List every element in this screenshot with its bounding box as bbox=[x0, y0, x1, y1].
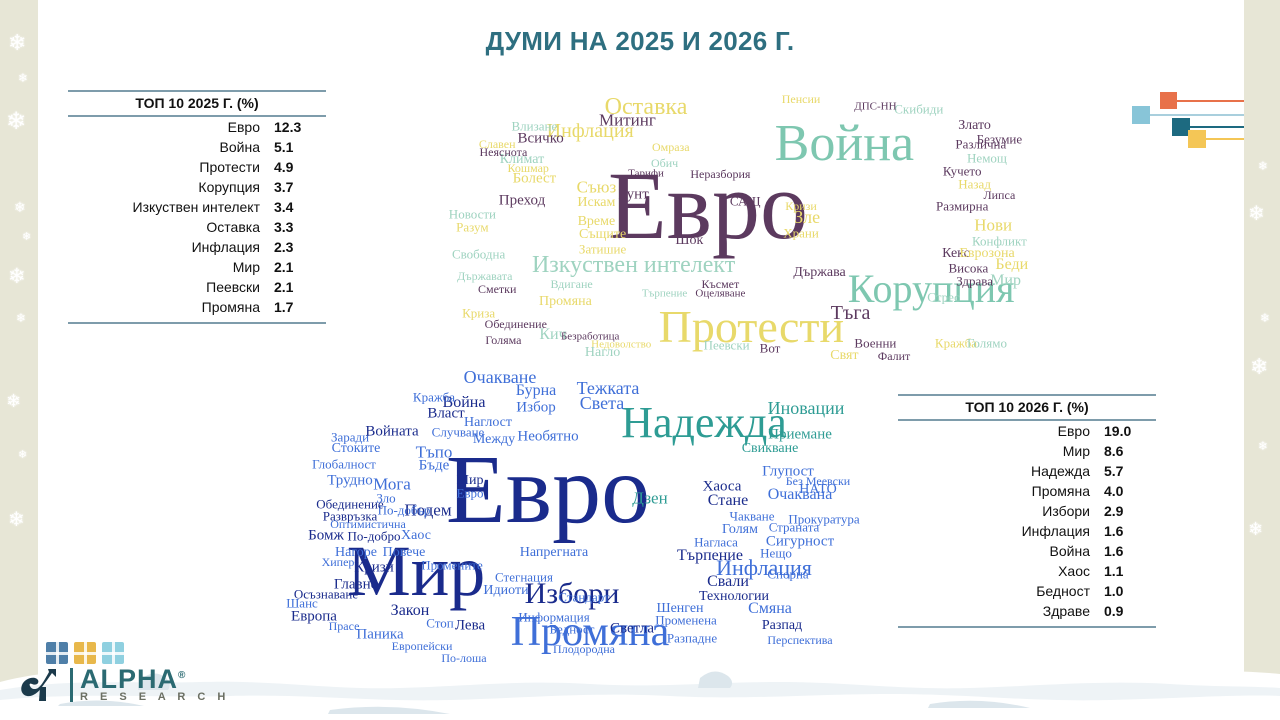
cloud-word: Сметки bbox=[478, 283, 516, 295]
cloud-word: Осъзнаване bbox=[294, 588, 358, 601]
cloud-word: Бунт bbox=[618, 188, 648, 203]
cloud-word: Иновации bbox=[768, 399, 845, 417]
cloud-word: Търпение bbox=[642, 289, 687, 300]
snowflake-icon: ❄ bbox=[1250, 356, 1268, 378]
table-row: Промяна1.7 bbox=[68, 297, 326, 317]
row-value: 5.7 bbox=[1104, 461, 1156, 481]
cloud-word: Спорна bbox=[767, 567, 808, 580]
cloud-word: Протести bbox=[659, 304, 844, 350]
row-value: 0.9 bbox=[1104, 601, 1156, 621]
cloud-word: Разпад bbox=[762, 619, 802, 633]
deco-line-orange bbox=[1177, 100, 1244, 102]
cloud-word: Тарифи bbox=[628, 168, 664, 179]
table-row: Война1.6 bbox=[898, 541, 1156, 561]
snowflake-icon: ❄ bbox=[1258, 160, 1268, 172]
deco-square-yellow bbox=[1188, 130, 1206, 148]
table-rule-bottom bbox=[898, 626, 1156, 628]
cloud-word: Власт bbox=[427, 407, 464, 422]
cloud-word: Идиоти bbox=[483, 584, 528, 598]
cloud-word: Съюз bbox=[577, 179, 617, 196]
cloud-word: Размирна bbox=[936, 199, 988, 212]
cloud-word: Избор bbox=[516, 401, 555, 416]
row-value: 3.4 bbox=[274, 197, 326, 217]
cloud-word: Стане bbox=[708, 493, 748, 509]
row-label: Мир bbox=[68, 257, 274, 277]
row-value: 4.0 bbox=[1104, 481, 1156, 501]
row-label: Протести bbox=[68, 157, 274, 177]
row-value: 19.0 bbox=[1104, 421, 1156, 441]
cloud-word: Евро bbox=[456, 486, 483, 499]
cloud-word: Необятно bbox=[517, 430, 578, 445]
cloud-word: Повече bbox=[383, 546, 426, 560]
table-row: Война5.1 bbox=[68, 137, 326, 157]
cloud-word: Глобалност bbox=[312, 457, 376, 470]
cloud-word: Кучето bbox=[943, 165, 982, 178]
cloud-word: Безумие bbox=[977, 132, 1023, 145]
cloud-word: Неразбория bbox=[690, 168, 750, 180]
row-value: 5.1 bbox=[274, 137, 326, 157]
cloud-word: Бъде bbox=[419, 459, 450, 474]
cloud-word: Държава bbox=[793, 266, 845, 280]
cloud-word: Между bbox=[473, 433, 515, 447]
cloud-word: Беди bbox=[995, 257, 1028, 273]
row-value: 4.9 bbox=[274, 157, 326, 177]
cloud-word: Новости bbox=[449, 207, 496, 220]
row-label: Война bbox=[898, 541, 1104, 561]
alpha-research-logo: ALPHA® R E S E A R C H bbox=[18, 658, 230, 712]
snowflake-icon: ❄ bbox=[1260, 312, 1270, 324]
row-label: Изкуствен интелект bbox=[68, 197, 274, 217]
cloud-word: Кризи bbox=[354, 560, 394, 575]
row-value: 1.6 bbox=[1104, 521, 1156, 541]
top10-2025-table: ТОП 10 2025 Г. (%) Евро12.3Война5.1Проте… bbox=[68, 90, 326, 324]
cloud-word: Стрес bbox=[927, 291, 960, 304]
table-row: Евро19.0 bbox=[898, 421, 1156, 441]
cloud-word: Кризи bbox=[785, 200, 817, 212]
cloud-word: Фалит bbox=[878, 350, 911, 362]
cloud-word: Вот bbox=[760, 341, 781, 354]
table-header-2026: ТОП 10 2026 Г. (%) bbox=[898, 396, 1156, 419]
top10-2026-table: ТОП 10 2026 Г. (%) Евро19.0Мир8.6Надежда… bbox=[898, 394, 1156, 628]
cloud-word: Свят bbox=[830, 349, 858, 363]
snowflake-icon: ❄ bbox=[22, 232, 31, 243]
cloud-word: Обединение bbox=[485, 318, 547, 330]
snowflake-icon: ❄ bbox=[1258, 440, 1268, 452]
cloud-word: Хипер bbox=[322, 556, 355, 568]
cloud-word: Нови bbox=[974, 216, 1012, 233]
table-row: Надежда5.7 bbox=[898, 461, 1156, 481]
cloud-word: Скибиди bbox=[894, 103, 943, 116]
cloud-word: Държавата bbox=[457, 270, 512, 282]
cloud-word: Здрава bbox=[956, 274, 993, 287]
cloud-word: Свикване bbox=[742, 442, 799, 456]
cloud-word: Шок bbox=[675, 234, 703, 248]
cloud-word: Чакване bbox=[730, 509, 775, 522]
snowflake-icon: ❄ bbox=[14, 200, 26, 214]
row-label: Пеевски bbox=[68, 277, 274, 297]
cloud-word: Искам bbox=[577, 196, 615, 210]
row-value: 2.9 bbox=[1104, 501, 1156, 521]
cloud-word: Преход bbox=[499, 193, 545, 208]
snowflake-icon: ❄ bbox=[18, 72, 28, 84]
row-value: 2.1 bbox=[274, 277, 326, 297]
snowflake-icon: ❄ bbox=[18, 450, 27, 461]
snowflake-icon: ❄ bbox=[8, 510, 25, 530]
cloud-word: Дзен bbox=[632, 490, 667, 507]
table-row: Здраве0.9 bbox=[898, 601, 1156, 621]
snowflake-icon: ❄ bbox=[8, 266, 26, 287]
cloud-word: Заради bbox=[331, 431, 369, 444]
row-label: Война bbox=[68, 137, 274, 157]
row-label: Корупция bbox=[68, 177, 274, 197]
cloud-word: Трудно bbox=[327, 473, 373, 488]
cloud-word: Закон bbox=[391, 603, 430, 619]
table-row: Пеевски2.1 bbox=[68, 277, 326, 297]
row-label: Промяна bbox=[898, 481, 1104, 501]
cloud-word: Прасе bbox=[329, 620, 360, 632]
cloud-word: Страната bbox=[769, 521, 820, 534]
cloud-word: Напрегната bbox=[520, 546, 588, 560]
cloud-word: Голяма bbox=[485, 334, 521, 346]
cloud-word: Надежда bbox=[621, 401, 787, 445]
table-row: Корупция3.7 bbox=[68, 177, 326, 197]
cloud-word: САЩ bbox=[730, 194, 761, 207]
row-label: Евро bbox=[68, 117, 274, 137]
page-title: ДУМИ НА 2025 И 2026 Г. bbox=[0, 26, 1280, 57]
cloud-word: Стегнация bbox=[495, 570, 553, 583]
cloud-word: Нещо bbox=[760, 547, 792, 560]
cloud-word: Приемане bbox=[768, 427, 832, 442]
cloud-word: Всичко bbox=[517, 131, 563, 146]
logo-divider bbox=[70, 668, 73, 702]
snowflake-icon: ❄ bbox=[6, 392, 21, 410]
table-row: Мир2.1 bbox=[68, 257, 326, 277]
deco-line-yellow bbox=[1206, 138, 1244, 140]
cloud-word: Войната bbox=[365, 424, 418, 439]
cloud-word: Нагло bbox=[585, 346, 620, 360]
word-cloud-2026: ЕвроМирНадеждаПромянаИзбориИнфлацияОчакв… bbox=[272, 362, 872, 652]
left-decorative-band: ❄ ❄ ❄ ❄ ❄ ❄ ❄ ❄ ❄ ❄ bbox=[0, 0, 38, 720]
table-row: Хаос1.1 bbox=[898, 561, 1156, 581]
table-rule-bottom bbox=[68, 322, 326, 324]
cloud-word: Смяна bbox=[748, 601, 792, 617]
table-row: Протести4.9 bbox=[68, 157, 326, 177]
cloud-word: Влизане bbox=[512, 119, 558, 132]
deco-line-teal bbox=[1190, 126, 1244, 128]
cloud-word: По-добро bbox=[348, 530, 401, 543]
cloud-word: Същите bbox=[579, 228, 626, 242]
cloud-word: Мога bbox=[373, 475, 411, 492]
row-value: 12.3 bbox=[274, 117, 326, 137]
alpha-arrow-icon bbox=[18, 663, 62, 707]
cloud-word: Война bbox=[775, 118, 914, 170]
row-label: Мир bbox=[898, 441, 1104, 461]
cloud-word: Търпение bbox=[677, 548, 743, 564]
row-label: Евро bbox=[898, 421, 1104, 441]
cloud-word: Тъга bbox=[831, 303, 871, 323]
cloud-word: Затишие bbox=[579, 242, 626, 255]
cloud-word: Голямо bbox=[967, 336, 1007, 349]
cloud-word: Неяснота bbox=[479, 146, 527, 158]
cloud-word: Кошмар bbox=[507, 162, 548, 174]
cloud-word: Промените bbox=[421, 559, 483, 572]
table-row: Избори2.9 bbox=[898, 501, 1156, 521]
row-label: Промяна bbox=[68, 297, 274, 317]
row-label: Инфлация bbox=[898, 521, 1104, 541]
table-row: Промяна4.0 bbox=[898, 481, 1156, 501]
cloud-word: Пеевски bbox=[704, 339, 750, 352]
table-row: Евро12.3 bbox=[68, 117, 326, 137]
row-value: 3.7 bbox=[274, 177, 326, 197]
row-value: 1.7 bbox=[274, 297, 326, 317]
logo-research-text: R E S E A R C H bbox=[80, 692, 230, 703]
cloud-word: Разум bbox=[456, 221, 488, 234]
table-body-2026: Евро19.0Мир8.6Надежда5.7Промяна4.0Избори… bbox=[898, 421, 1156, 621]
cloud-word: Хаос bbox=[401, 529, 431, 543]
cloud-word: Военни bbox=[854, 336, 896, 349]
table-row: Мир8.6 bbox=[898, 441, 1156, 461]
table-row: Изкуствен интелект3.4 bbox=[68, 197, 326, 217]
logo-alpha-text: ALPHA® bbox=[80, 667, 230, 693]
deco-square-orange bbox=[1160, 92, 1177, 109]
row-value: 2.1 bbox=[274, 257, 326, 277]
deco-line-lightblue bbox=[1150, 114, 1244, 116]
snowflake-icon: ❄ bbox=[16, 312, 26, 324]
cloud-word: ДПС-НН bbox=[854, 101, 896, 112]
row-value: 2.3 bbox=[274, 237, 326, 257]
cloud-word: По-добър bbox=[378, 503, 431, 516]
cloud-word: Митинг bbox=[599, 112, 656, 129]
row-value: 3.3 bbox=[274, 217, 326, 237]
cloud-word: Злато bbox=[958, 119, 991, 133]
row-label: Оставка bbox=[68, 217, 274, 237]
row-value: 1.1 bbox=[1104, 561, 1156, 581]
row-value: 1.0 bbox=[1104, 581, 1156, 601]
right-decorative-band: ❄ ❄ ❄ ❄ ❄ ❄ bbox=[1244, 0, 1280, 720]
snowflake-icon: ❄ bbox=[6, 110, 26, 134]
cloud-word: Стандарт bbox=[558, 590, 609, 603]
row-label: Инфлация bbox=[68, 237, 274, 257]
table-row: Оставка3.3 bbox=[68, 217, 326, 237]
table-row: Инфлация2.3 bbox=[68, 237, 326, 257]
cloud-word: Мир bbox=[990, 273, 1021, 289]
cloud-word: Немощ bbox=[967, 151, 1007, 164]
word-cloud-2025: ЕвроВойнаПротестиКорупцияИзкуствен интел… bbox=[398, 88, 1018, 356]
cloud-word: Променена bbox=[655, 614, 717, 627]
cloud-word: Бомж bbox=[308, 529, 344, 544]
cloud-word: Кражба bbox=[413, 390, 455, 403]
cloud-word: Бурна bbox=[516, 383, 556, 399]
cloud-word: Храни bbox=[783, 226, 819, 239]
row-label: Надежда bbox=[898, 461, 1104, 481]
row-value: 8.6 bbox=[1104, 441, 1156, 461]
row-value: 1.6 bbox=[1104, 541, 1156, 561]
cloud-word: Изкуствен интелект bbox=[532, 253, 735, 277]
deco-square-lightblue bbox=[1132, 106, 1150, 124]
cloud-word: НАТО bbox=[799, 483, 836, 497]
cloud-word: Промяна bbox=[539, 295, 592, 309]
row-label: Здраве bbox=[898, 601, 1104, 621]
cloud-word: Висока bbox=[948, 261, 988, 274]
table-body-2025: Евро12.3Война5.1Протести4.9Корупция3.7Из… bbox=[68, 117, 326, 317]
cloud-word: Пенсии bbox=[782, 93, 821, 105]
cloud-word: Свободна bbox=[452, 248, 505, 261]
cloud-word: Омраза bbox=[652, 141, 690, 153]
corner-decoration bbox=[1132, 84, 1244, 150]
snowflake-icon: ❄ bbox=[1248, 204, 1265, 224]
table-row: Бедност1.0 bbox=[898, 581, 1156, 601]
row-label: Хаос bbox=[898, 561, 1104, 581]
row-label: Избори bbox=[898, 501, 1104, 521]
table-row: Инфлация1.6 bbox=[898, 521, 1156, 541]
cloud-word: Света bbox=[580, 394, 624, 412]
snowflake-icon: ❄ bbox=[1248, 520, 1263, 538]
table-header-2025: ТОП 10 2025 Г. (%) bbox=[68, 92, 326, 115]
row-label: Бедност bbox=[898, 581, 1104, 601]
cloud-word: Оцеляване bbox=[695, 289, 745, 300]
cloud-word: Вдигане bbox=[550, 278, 592, 290]
cloud-word: Стоп bbox=[426, 617, 453, 630]
